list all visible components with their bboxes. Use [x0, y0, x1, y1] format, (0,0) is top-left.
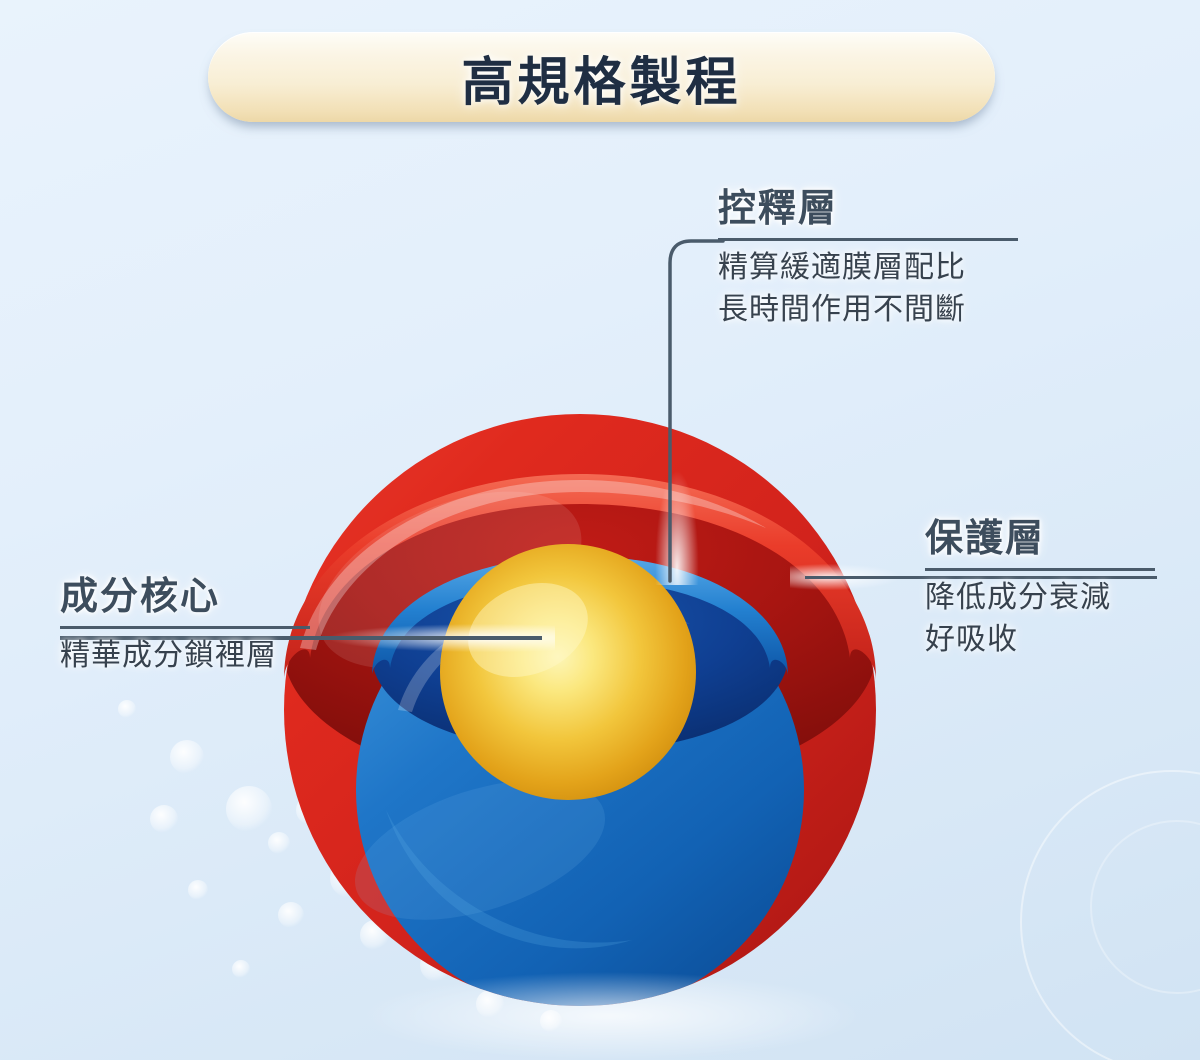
layered-sphere-diagram — [150, 380, 1030, 1060]
callout-protect-line2: 好吸收 — [925, 619, 1155, 662]
callout-release-line2: 長時間作用不間斷 — [718, 289, 1018, 332]
callout-protect-heading: 保護層 — [925, 520, 1155, 560]
bokeh-dot — [118, 700, 136, 718]
callout-release-heading: 控釋層 — [718, 190, 1018, 230]
callout-release-layer: 控釋層 精算緩適膜層配比 長時間作用不間斷 — [718, 190, 1018, 332]
callout-core-line1: 精華成分鎖裡層 — [60, 635, 310, 678]
halo-ring — [1020, 770, 1200, 1060]
callout-protect-rule — [925, 568, 1155, 571]
page-title-banner: 高規格製程 — [208, 32, 995, 122]
callout-release-rule — [718, 238, 1018, 241]
page-title: 高規格製程 — [461, 40, 741, 115]
halo-ring — [1090, 820, 1200, 994]
callout-core-layer: 成分核心 精華成分鎖裡層 — [60, 578, 310, 677]
ground-glow — [360, 972, 860, 1060]
callout-core-heading: 成分核心 — [60, 578, 310, 618]
callout-protect-layer: 保護層 降低成分衰減 好吸收 — [925, 520, 1155, 662]
callout-protect-line1: 降低成分衰減 — [925, 577, 1155, 620]
callout-core-rule — [60, 626, 310, 629]
golden-active-core — [440, 544, 696, 800]
poster-canvas: 高規格製程 控釋層 精算緩適膜層配比 長時間作用不間斷 保護層 降低成分衰減 好… — [0, 0, 1200, 1060]
callout-release-line1: 精算緩適膜層配比 — [718, 247, 1018, 290]
